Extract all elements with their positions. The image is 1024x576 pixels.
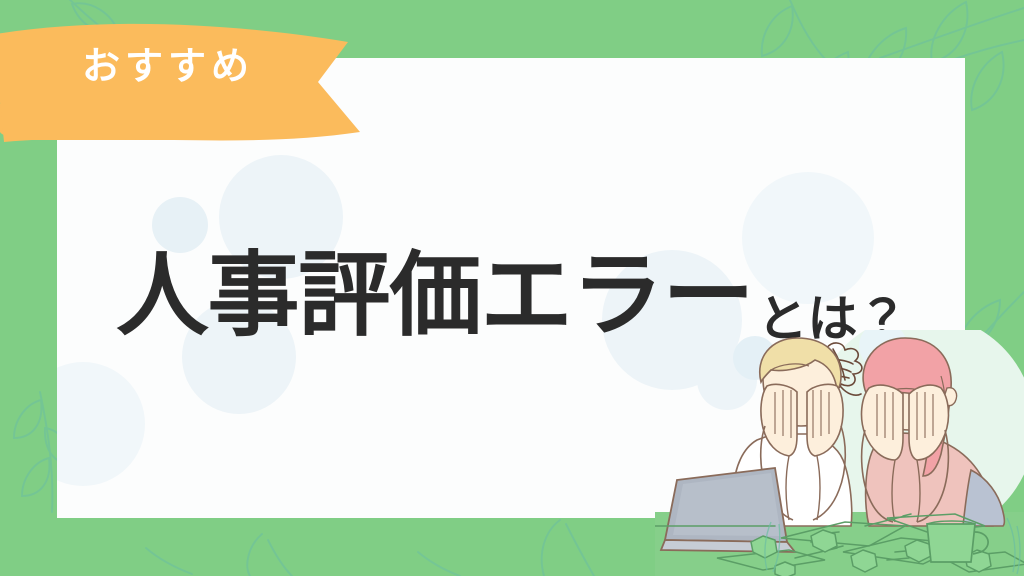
decor-blob: [742, 172, 874, 304]
decor-blob: [57, 362, 145, 486]
decor-blob: [219, 155, 343, 279]
decor-blob: [152, 197, 208, 253]
ribbon-label: おすすめ: [82, 48, 254, 86]
slide-canvas: 人事評価エラーとは？: [0, 0, 1024, 576]
illustration-frustrated-coworkers: [655, 330, 1024, 576]
decor-blob: [182, 300, 296, 414]
